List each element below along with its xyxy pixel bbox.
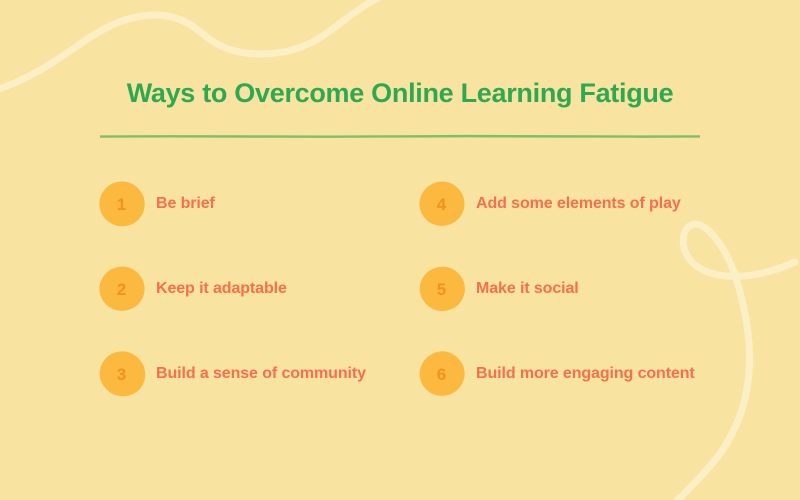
number-badge: 6: [418, 350, 466, 398]
badge-number: 3: [117, 366, 126, 383]
left-column: 1 Be brief 2 Keep it adaptable: [98, 175, 458, 430]
list-item-label: Be brief: [156, 194, 215, 214]
tips-list: 1 Be brief 2 Keep it adaptable: [0, 175, 800, 415]
list-item[interactable]: 6 Build more engaging content: [418, 345, 778, 430]
number-badge: 1: [98, 180, 146, 228]
list-item-label: Build a sense of community: [156, 364, 366, 384]
badge-number: 1: [117, 196, 126, 213]
page-title: Ways to Overcome Online Learning Fatigue: [0, 76, 800, 110]
badge-number: 6: [437, 366, 446, 383]
number-badge: 4: [418, 180, 466, 228]
badge-number: 5: [437, 281, 446, 298]
badge-number: 4: [437, 196, 446, 213]
list-item[interactable]: 4 Add some elements of play: [418, 175, 778, 260]
list-item[interactable]: 5 Make it social: [418, 260, 778, 345]
number-badge: 5: [418, 265, 466, 313]
list-item-label: Make it social: [476, 279, 579, 299]
header-block: Ways to Overcome Online Learning Fatigue: [0, 76, 800, 110]
list-item-label: Keep it adaptable: [156, 279, 287, 299]
number-badge: 2: [98, 265, 146, 313]
list-item-label: Add some elements of play: [476, 194, 681, 214]
list-item[interactable]: 1 Be brief: [98, 175, 458, 260]
right-column: 4 Add some elements of play 5 Make it so…: [418, 175, 778, 430]
infographic-canvas: Ways to Overcome Online Learning Fatigue…: [0, 0, 800, 500]
list-item[interactable]: 3 Build a sense of community: [98, 345, 458, 430]
list-item[interactable]: 2 Keep it adaptable: [98, 260, 458, 345]
list-item-label: Build more engaging content: [476, 364, 695, 384]
badge-number: 2: [117, 281, 126, 298]
title-underline: [100, 126, 700, 131]
number-badge: 3: [98, 350, 146, 398]
